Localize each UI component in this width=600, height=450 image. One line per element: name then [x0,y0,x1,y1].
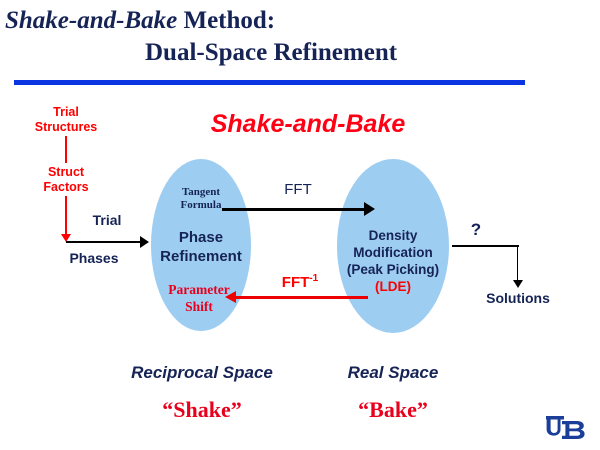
label-struct-factors: StructFactors [14,165,118,195]
title-divider [14,80,525,85]
arrowhead-left-icon [225,291,236,303]
label-question-mark: ? [464,220,488,240]
label-phase-refinement: PhaseRefinement [145,228,257,266]
diagram-heading: Shake-and-Bake [178,110,438,139]
ub-logo [545,410,589,440]
label-solutions: Solutions [472,290,564,306]
label-fft-inverse: FFT-1 [255,273,345,291]
caption-shake: “Shake” [137,397,267,423]
label-phases: Phases [48,250,140,266]
page-title-rest: Method: [177,7,275,34]
arrow-trial-phases-line [66,241,142,243]
page-title-emphasis: Shake-and-Bake [5,7,177,34]
connector-solutions-horizontal [452,245,519,247]
arrowhead-right-icon [364,202,375,216]
label-trial: Trial [74,212,140,228]
arrow-fft-forward-line [222,208,368,211]
caption-bake: “Bake” [337,397,449,423]
arrow-fft-inverse-line [236,296,368,299]
connector-solutions-vertical [517,245,518,282]
page-title-line-2: Dual-Space Refinement [145,38,397,68]
caption-real-space: Real Space [334,363,452,383]
caption-reciprocal-space: Reciprocal Space [131,363,273,383]
label-density-modification: DensityModification(Peak Picking) [333,227,453,278]
label-fft-forward: FFT [253,181,343,198]
label-fft-inverse-base: FFT [282,274,310,291]
label-lde: (LDE) [333,278,453,295]
connector-struct-factors-down [65,196,67,236]
connector-trial-structures-to-struct-factors [65,136,67,163]
label-trial-structures: TrialStructures [14,105,118,135]
arrowhead-down-icon [513,280,523,288]
label-fft-inverse-exponent: -1 [309,273,318,284]
slide-canvas: Shake-and-Bake Method: Dual-Space Refine… [0,0,600,450]
page-title-line-1: Shake-and-Bake Method: [5,6,275,36]
